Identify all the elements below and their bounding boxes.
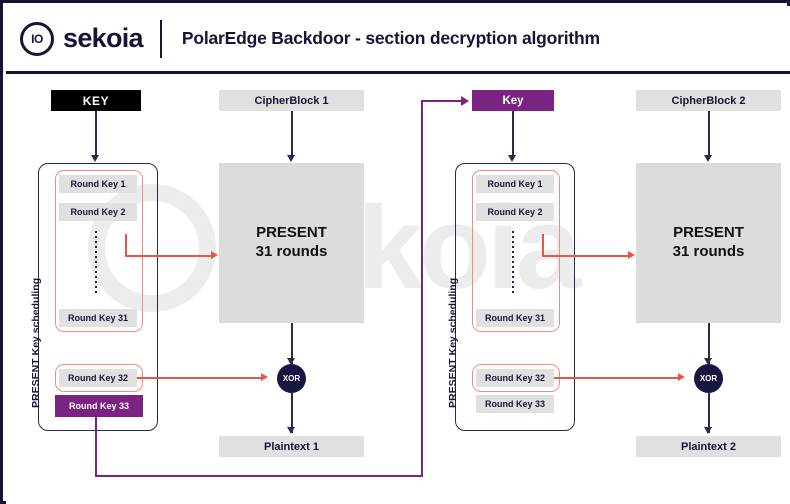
arrowhead-key1-to-panel <box>91 155 99 162</box>
diagram-page: IO sekoia PolarEdge Backdoor - section d… <box>0 0 790 504</box>
arrowhead-feedback-to-key2 <box>461 96 469 106</box>
feedback-bottom-run <box>95 475 423 477</box>
sekoia-wordmark: sekoia <box>63 23 143 54</box>
plaintext-1-box: Plaintext 1 <box>219 436 364 457</box>
connector-rk32-to-xor2 <box>554 377 679 379</box>
feedback-riser-down <box>95 417 97 476</box>
connector-rk1-to-present1 <box>125 255 212 257</box>
cipherblock-1-box: CipherBlock 1 <box>219 90 364 111</box>
round-key-32-stage1: Round Key 32 <box>59 369 137 387</box>
arrowhead-cb1-to-present1 <box>287 155 295 162</box>
round-key-1-stage1: Round Key 1 <box>59 175 137 193</box>
connector-rk2-to-present2 <box>542 255 629 257</box>
plaintext-2-box: Plaintext 2 <box>636 436 781 457</box>
arrowhead-rk32-to-xor1 <box>261 373 268 381</box>
connector-key1-to-panel <box>95 111 97 155</box>
present-block-1: PRESENT 31 rounds <box>219 163 364 323</box>
round-key-31-stage2: Round Key 31 <box>476 309 554 327</box>
round-key-2-stage1: Round Key 2 <box>59 203 137 221</box>
connector-rk32-to-xor1 <box>137 377 262 379</box>
connector-rk1-riser <box>125 234 127 256</box>
round-key-2-stage2: Round Key 2 <box>476 203 554 221</box>
ellipsis-dots-1 <box>95 231 97 293</box>
sekoia-logo-mark-icon: IO <box>20 22 54 56</box>
present-block-2: PRESENT 31 rounds <box>636 163 781 323</box>
present-block-1-line2: 31 rounds <box>256 243 328 262</box>
round-key-1-stage2: Round Key 1 <box>476 175 554 193</box>
key-scheduling-label-2: PRESENT Key scheduling <box>447 278 459 408</box>
connector-cb1-to-present1 <box>291 111 293 155</box>
arrowhead-xor1-to-plaintext1 <box>287 427 295 434</box>
key-box-1: KEY <box>51 90 141 111</box>
xor-node-1: XOR <box>277 364 306 393</box>
present-block-2-line1: PRESENT <box>673 224 744 243</box>
round-key-group-1 <box>55 170 143 332</box>
key-box-2: Key <box>472 90 554 111</box>
round-key-31-stage1: Round Key 31 <box>59 309 137 327</box>
header-divider <box>160 20 162 58</box>
connector-rk2-riser <box>542 234 544 256</box>
round-key-33-stage2: Round Key 33 <box>476 395 554 413</box>
round-key-group-2 <box>472 170 560 332</box>
present-block-1-line1: PRESENT <box>256 224 327 243</box>
cipherblock-2-box: CipherBlock 2 <box>636 90 781 111</box>
feedback-riser-up <box>421 100 423 476</box>
connector-key2-to-panel <box>512 111 514 155</box>
arrowhead-cb2-to-present2 <box>704 155 712 162</box>
logo-mark-text: IO <box>31 33 43 45</box>
arrowhead-rk32-to-xor2 <box>678 373 685 381</box>
arrowhead-rk2-to-present2 <box>628 251 635 259</box>
ellipsis-dots-2 <box>512 231 514 293</box>
key-scheduling-label-1: PRESENT Key scheduling <box>30 278 42 408</box>
xor-node-2: XOR <box>694 364 723 393</box>
header-bar: IO sekoia PolarEdge Backdoor - section d… <box>6 6 790 74</box>
sekoia-logo: IO sekoia <box>20 22 143 56</box>
page-title: PolarEdge Backdoor - section decryption … <box>182 28 600 49</box>
feedback-top-run <box>421 100 463 102</box>
arrowhead-rk1-to-present1 <box>211 251 218 259</box>
present-block-2-line2: 31 rounds <box>673 243 745 262</box>
connector-cb2-to-present2 <box>708 111 710 155</box>
diagram-canvas: sekoia KEY PRESENT Key scheduling Round … <box>6 74 790 504</box>
round-key-33-stage1: Round Key 33 <box>55 395 143 417</box>
round-key-32-stage2: Round Key 32 <box>476 369 554 387</box>
arrowhead-xor2-to-plaintext2 <box>704 427 712 434</box>
arrowhead-key2-to-panel <box>508 155 516 162</box>
